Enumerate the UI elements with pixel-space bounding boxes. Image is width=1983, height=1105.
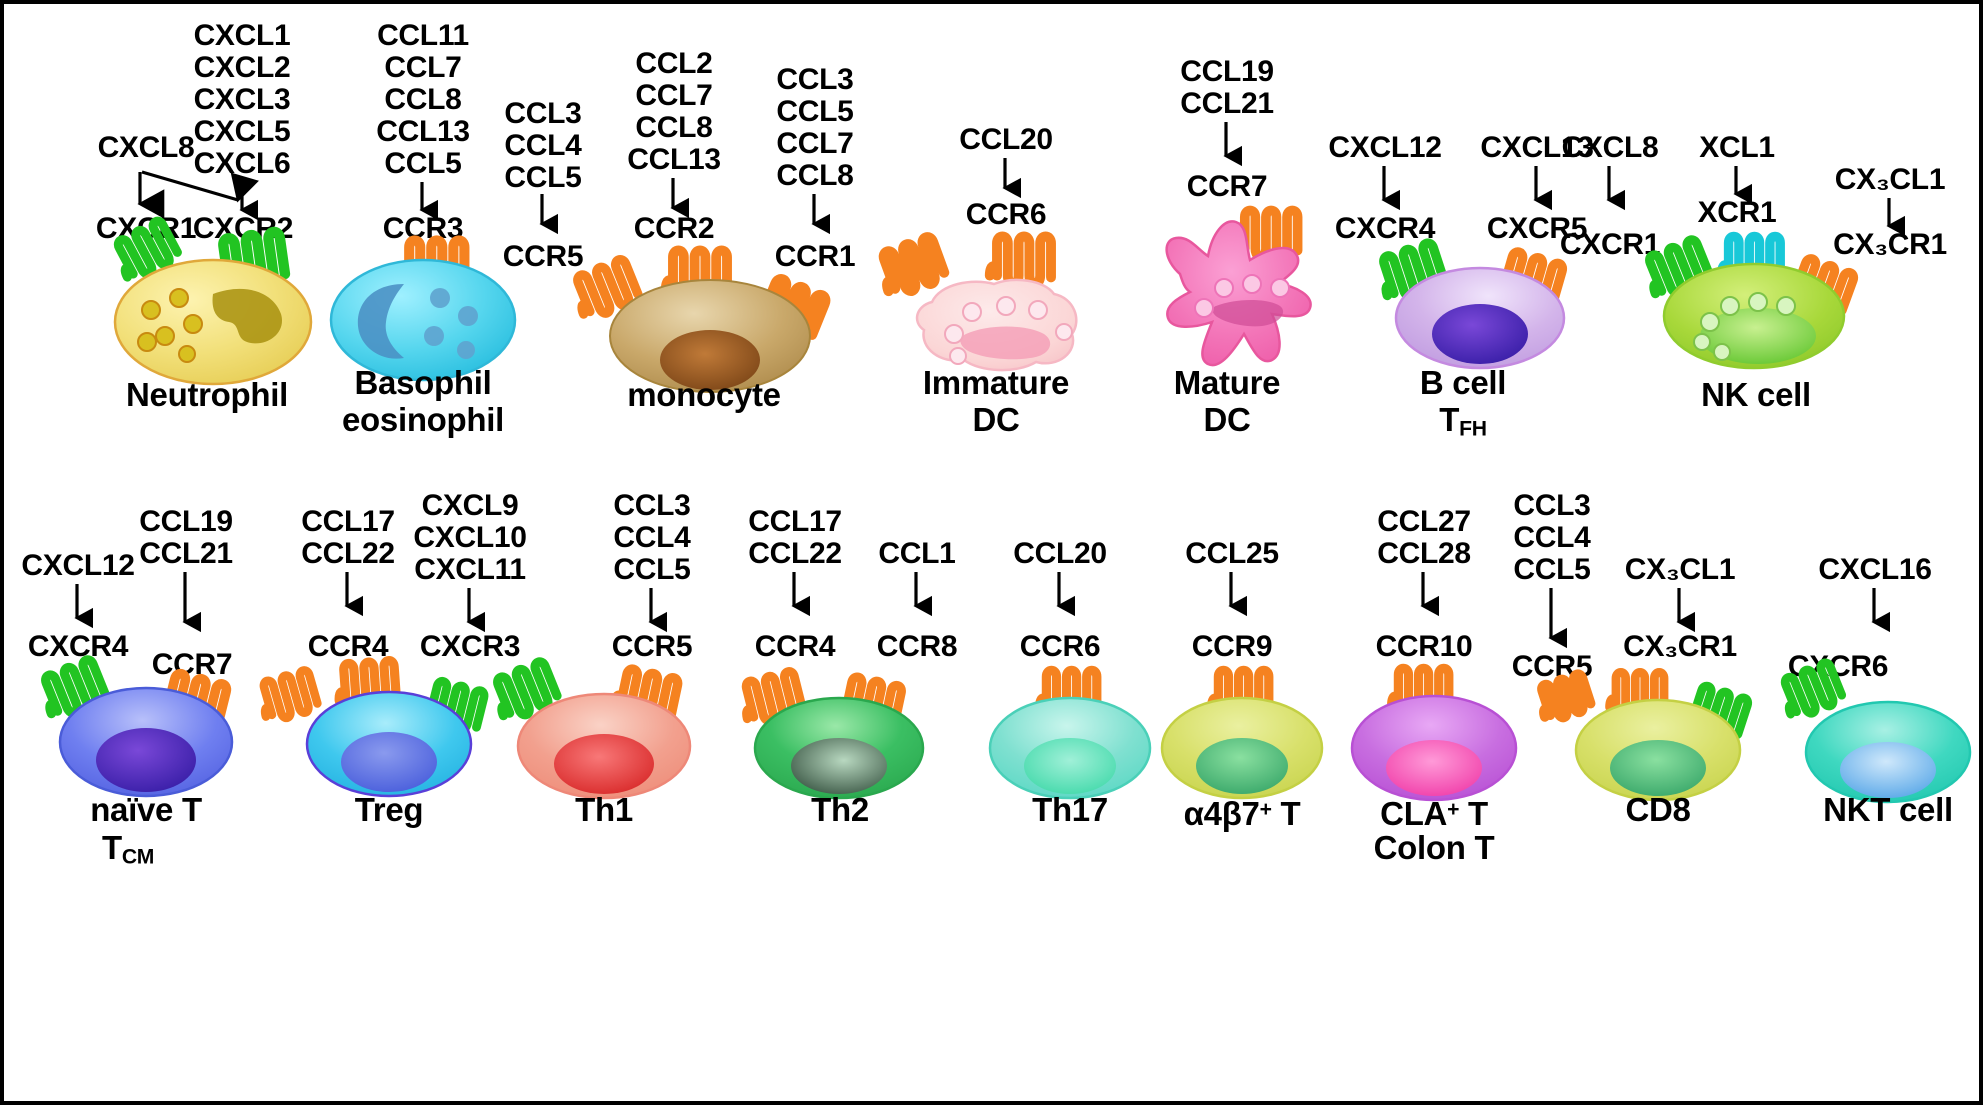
ligand-ccl22-th2: CCL22 — [748, 536, 842, 572]
figure-canvas: CXCL8 CXCL1 CXCL2 CXCL3 CXCL5 CXCL6 CXCR… — [0, 0, 1983, 1105]
arrow-cxcl13-cxcr5-bcell — [1522, 164, 1552, 214]
arrow-cx3cl1-cx3cr1-cd8 — [1665, 586, 1695, 636]
cell-neutrophil — [95, 238, 325, 368]
ligand-cxcl10-treg: CXCL10 — [413, 520, 526, 556]
cell-nkt — [1776, 660, 1976, 804]
cell-label-tfh: TFH — [1439, 400, 1486, 450]
ligand-ccl21-mdc: CCL21 — [1180, 86, 1274, 122]
ligand-cxcl1: CXCL1 — [194, 18, 291, 54]
ligand-ccl3-idc: CCL3 — [776, 62, 853, 98]
arrow-cxcl8-cxcr1-nk — [1595, 164, 1625, 214]
ligand-cxcl16-nkt: CXCL16 — [1818, 552, 1931, 588]
cell-label-dc-mature: DC — [1203, 400, 1250, 440]
cell-b-cell-tfh — [1368, 236, 1588, 370]
cell-label-naive-t: naïve T — [90, 790, 202, 830]
cell-label-immature: Immature — [923, 363, 1069, 403]
receptor-ccr7-treg-icon — [257, 669, 319, 723]
ligand-ccl13-mono: CCL13 — [627, 142, 721, 178]
ligand-ccl17-th2: CCL17 — [748, 504, 842, 540]
ligand-ccl22-treg: CCL22 — [301, 536, 395, 572]
arrow-ccl20-ccr6 — [991, 156, 1021, 202]
cell-cla-t — [1330, 656, 1540, 800]
cell-label-th2: Th2 — [811, 790, 869, 830]
cell-label-dc-immature: DC — [972, 400, 1019, 440]
ligand-ccl4-cd8: CCL4 — [1513, 520, 1590, 556]
ligand-ccl7-idc: CCL7 — [776, 126, 853, 162]
cell-label-basophil: Basophil — [355, 363, 492, 403]
cell-a4b7-t — [1138, 656, 1348, 800]
arrow-ccl-group-ccr5 — [528, 192, 558, 236]
cell-mature-dc — [1128, 200, 1358, 376]
arrow-cxcl12-cxcr4-bcell — [1370, 164, 1400, 214]
cell-label-tcm: TCM — [102, 828, 154, 878]
ligand-ccl19-mdc: CCL19 — [1180, 54, 1274, 90]
cell-basophil-eosinophil — [318, 240, 528, 368]
ligand-ccl7-mono: CCL7 — [635, 78, 712, 114]
ligand-ccl13-baso: CCL13 — [376, 114, 470, 150]
ligand-cx3cl1-cd8: CX₃CL1 — [1625, 552, 1735, 588]
ligand-ccl5-baso: CCL5 — [384, 146, 461, 182]
ligand-ccl8-mono: CCL8 — [635, 110, 712, 146]
arrow-cxcl8-branch — [110, 168, 300, 218]
ligand-ccl5-mono: CCL5 — [504, 160, 581, 196]
ligand-ccl4-mono: CCL4 — [504, 128, 581, 164]
receptor-label-xcr1-nk: XCR1 — [1698, 196, 1777, 230]
arrow-ccl27-28-ccr10-cla — [1409, 570, 1439, 620]
ligand-cxcl8-neutrophil: CXCL8 — [98, 130, 195, 166]
cell-monocyte — [560, 250, 850, 380]
receptor-ccr5-cd8-icon — [1535, 673, 1592, 723]
cell-th1 — [480, 656, 730, 800]
ligand-ccl19-naivet: CCL19 — [139, 504, 233, 540]
ligand-ccl20-idc: CCL20 — [959, 122, 1053, 158]
ligand-ccl4-th1: CCL4 — [613, 520, 690, 556]
cell-cd8 — [1530, 656, 1790, 800]
receptor-ccr1-idc-icon — [876, 236, 946, 298]
ligand-ccl20-th17: CCL20 — [1013, 536, 1107, 572]
arrow-ccl3-5-ccr5-cd8 — [1537, 586, 1567, 652]
cell-label-treg: Treg — [355, 790, 424, 830]
cell-label-a4b7-t: α4β7+ T — [1184, 790, 1301, 834]
ligand-ccl8-baso: CCL8 — [384, 82, 461, 118]
ligand-ccl25-a4b7: CCL25 — [1185, 536, 1279, 572]
cell-label-mature: Mature — [1174, 363, 1280, 403]
arrow-ccl17-22-ccr4-th2 — [780, 570, 810, 620]
cell-label-monocyte: monocyte — [627, 375, 780, 415]
ligand-cxcl8-nk: CXCL8 — [1562, 130, 1659, 166]
cell-label-cd8: CD8 — [1625, 790, 1690, 830]
ligand-ccl27-cla: CCL27 — [1377, 504, 1471, 540]
ligand-ccl3-mono: CCL3 — [504, 96, 581, 132]
arrow-ccl3-5-ccr5-th1 — [637, 586, 667, 636]
ligand-cxcl9-treg: CXCL9 — [422, 488, 519, 524]
ligand-cxcl5: CXCL5 — [194, 114, 291, 150]
cell-label-nk: NK cell — [1701, 375, 1811, 415]
ligand-ccl28-cla: CCL28 — [1377, 536, 1471, 572]
ligand-xcl1-nk: XCL1 — [1699, 130, 1775, 166]
ligand-ccl7-baso: CCL7 — [384, 50, 461, 86]
ligand-ccl21-naivet: CCL21 — [139, 536, 233, 572]
ligand-ccl5-idc: CCL5 — [776, 94, 853, 130]
arrow-cxcl16-cxcr6-nkt — [1860, 586, 1890, 636]
ligand-ccl3-cd8: CCL3 — [1513, 488, 1590, 524]
arrow-ccl1-ccr8-th2 — [902, 570, 932, 620]
cell-immature-dc — [868, 236, 1128, 372]
cell-naive-t — [28, 652, 268, 798]
receptor-ccr6-idc-icon — [990, 236, 1051, 283]
cell-nk — [1636, 230, 1876, 370]
arrow-ccl25-ccr9-a4b7 — [1217, 570, 1247, 620]
cell-label-eosinophil: eosinophil — [342, 400, 504, 440]
ligand-ccl3-th1: CCL3 — [613, 488, 690, 524]
cell-label-th17: Th17 — [1032, 790, 1108, 830]
arrow-cxcl12-cxcr4-naivet — [63, 582, 93, 632]
cell-label-th1: Th1 — [575, 790, 633, 830]
cell-label-b-cell: B cell — [1420, 363, 1506, 403]
arrow-ccl-group-ccr1 — [800, 192, 830, 238]
cell-label-neutrophil: Neutrophil — [126, 375, 288, 415]
receptor-label-ccr7-mdc: CCR7 — [1187, 170, 1267, 204]
cell-th2 — [715, 656, 965, 800]
receptor-label-ccr2-mono: CCR2 — [634, 212, 714, 246]
arrow-ccl20-ccr6-th17 — [1045, 570, 1075, 620]
ligand-ccl8-idc: CCL8 — [776, 158, 853, 194]
receptor-label-ccr6-idc: CCR6 — [966, 198, 1046, 232]
ligand-ccl11: CCL11 — [377, 18, 469, 54]
arrow-ccl19-21-ccr7-naivet — [171, 570, 201, 636]
cell-label-nkt: NKT cell — [1823, 790, 1953, 830]
cell-label-colon-t: Colon T — [1374, 828, 1495, 868]
ligand-ccl1-th2: CCL1 — [878, 536, 955, 572]
ligand-cxcl12-bcell: CXCL12 — [1328, 130, 1441, 166]
ligand-ccl5-th1: CCL5 — [613, 552, 690, 588]
ligand-cxcl11-treg: CXCL11 — [414, 552, 526, 588]
ligand-ccl2: CCL2 — [635, 46, 712, 82]
arrow-ccl19-21-ccr7 — [1212, 120, 1242, 170]
ligand-cx3cl1-nk: CX₃CL1 — [1835, 162, 1945, 198]
ligand-ccl17-treg: CCL17 — [301, 504, 395, 540]
ligand-cxcl2: CXCL2 — [194, 50, 291, 86]
ligand-cxcl12-naivet: CXCL12 — [21, 548, 134, 584]
ligand-ccl5-cd8: CCL5 — [1513, 552, 1590, 588]
arrow-ccl17-22-ccr4-treg — [333, 570, 363, 620]
receptor-cxcr6-nkt-icon — [1778, 661, 1844, 720]
ligand-cxcl3: CXCL3 — [194, 82, 291, 118]
arrow-cxcl9-11-cxcr3-treg — [455, 586, 485, 636]
